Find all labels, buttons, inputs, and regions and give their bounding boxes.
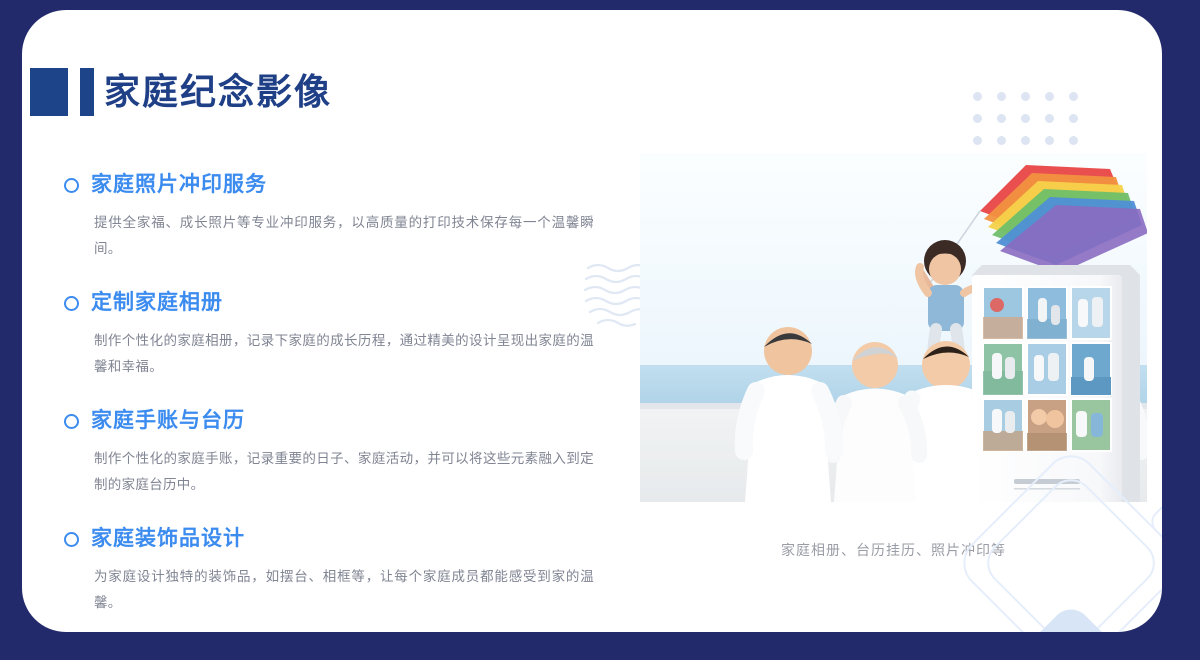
feature-description: 提供全家福、成长照片等专业冲印服务，以高质量的打印技术保存每一个温馨瞬间。 <box>94 210 594 262</box>
feature-title: 家庭装饰品设计 <box>91 524 245 554</box>
feature-description: 制作个性化的家庭手账，记录重要的日子、家庭活动，并可以将这些元素融入到定制的家庭… <box>94 446 594 498</box>
grid-dot <box>1021 92 1030 101</box>
grid-dot <box>997 92 1006 101</box>
feature-item-4[interactable]: 家庭装饰品设计 为家庭设计独特的装饰品，如摆台、相框等，让每个家庭成员都能感受到… <box>42 524 612 616</box>
grid-dot <box>1021 114 1030 123</box>
page-title: 家庭纪念影像 <box>104 68 332 116</box>
circle-outline-icon <box>64 178 79 193</box>
grid-dot <box>1045 136 1054 145</box>
feature-heading: 家庭照片冲印服务 <box>42 170 612 200</box>
family-photo-illustration <box>640 153 1147 502</box>
grid-dot <box>1069 136 1078 145</box>
family-photo <box>640 153 1147 502</box>
feature-description: 制作个性化的家庭相册，记录下家庭的成长历程，通过精美的设计呈现出家庭的温馨和幸福… <box>94 328 594 380</box>
circle-outline-icon <box>64 296 79 311</box>
title-mark-large <box>30 68 68 116</box>
feature-title: 家庭照片冲印服务 <box>91 170 267 200</box>
grid-dot <box>997 114 1006 123</box>
feature-description: 为家庭设计独特的装饰品，如摆台、相框等，让每个家庭成员都能感受到家的温馨。 <box>94 564 594 616</box>
dot-grid-decoration <box>973 85 1069 135</box>
grid-dot <box>1069 92 1078 101</box>
feature-heading: 定制家庭相册 <box>42 288 612 318</box>
grid-dot <box>1021 136 1030 145</box>
grid-dot <box>1069 114 1078 123</box>
feature-item-1[interactable]: 家庭照片冲印服务 提供全家福、成长照片等专业冲印服务，以高质量的打印技术保存每一… <box>42 170 612 262</box>
title-mark-small <box>80 68 94 116</box>
grid-dot <box>997 136 1006 145</box>
feature-heading: 家庭装饰品设计 <box>42 524 612 554</box>
feature-title: 家庭手账与台历 <box>91 406 245 436</box>
slide-card: 家庭纪念影像 <box>22 10 1162 632</box>
feature-heading: 家庭手账与台历 <box>42 406 612 436</box>
feature-item-2[interactable]: 定制家庭相册 制作个性化的家庭相册，记录下家庭的成长历程，通过精美的设计呈现出家… <box>42 288 612 380</box>
grid-dot <box>973 136 982 145</box>
feature-title: 定制家庭相册 <box>91 288 223 318</box>
photo-caption: 家庭相册、台历挂历、照片冲印等 <box>640 540 1147 560</box>
grid-dot <box>1045 114 1054 123</box>
grid-dot <box>973 114 982 123</box>
grid-dot <box>973 92 982 101</box>
circle-outline-icon <box>64 532 79 547</box>
slide-background: 家庭纪念影像 <box>0 0 1200 660</box>
feature-list: 家庭照片冲印服务 提供全家福、成长照片等专业冲印服务，以高质量的打印技术保存每一… <box>42 170 612 632</box>
feature-item-3[interactable]: 家庭手账与台历 制作个性化的家庭手账，记录重要的日子、家庭活动，并可以将这些元素… <box>42 406 612 498</box>
circle-outline-icon <box>64 414 79 429</box>
grid-dot <box>1045 92 1054 101</box>
